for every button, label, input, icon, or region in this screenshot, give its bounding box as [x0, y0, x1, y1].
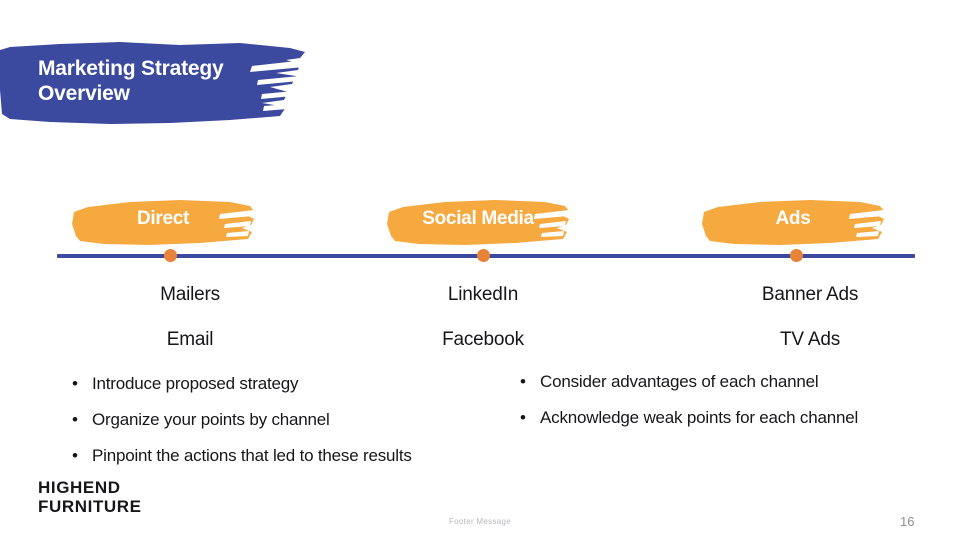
timeline-dot-direct	[164, 249, 177, 262]
channel-tag-social-media[interactable]: Social Media	[385, 198, 571, 246]
bullet-marker-icon: •	[520, 406, 540, 430]
list-item-label: Consider advantages of each channel	[540, 370, 818, 394]
bullet-marker-icon: •	[72, 372, 92, 396]
page-number: 16	[900, 514, 940, 529]
channel-item: Banner Ads	[700, 272, 920, 317]
brand-logo-line-2: FURNITURE	[38, 497, 142, 516]
channel-tag-label: Direct	[70, 208, 256, 230]
channel-item: Facebook	[373, 317, 593, 362]
footer-message: Footer Message	[0, 517, 960, 526]
bullet-list-right: • Consider advantages of each channel • …	[520, 370, 940, 442]
channel-tag-label: Social Media	[385, 208, 571, 230]
timeline-dot-ads	[790, 249, 803, 262]
timeline-dot-social-media	[477, 249, 490, 262]
bullet-marker-icon: •	[520, 370, 540, 394]
list-item: • Consider advantages of each channel	[520, 370, 940, 394]
list-item: • Introduce proposed strategy	[72, 372, 512, 396]
bullet-list-left: • Introduce proposed strategy • Organize…	[72, 372, 512, 480]
channel-item: Mailers	[80, 272, 300, 317]
channel-tag-direct[interactable]: Direct	[70, 198, 256, 246]
channel-tag-ads[interactable]: Ads	[700, 198, 886, 246]
slide-canvas: Marketing Strategy Overview Direct Socia…	[0, 0, 960, 540]
brand-logo: HIGHEND FURNITURE	[38, 478, 142, 516]
channel-item: TV Ads	[700, 317, 920, 362]
list-item-label: Organize your points by channel	[92, 408, 330, 432]
channel-item: Email	[80, 317, 300, 362]
bullet-marker-icon: •	[72, 408, 92, 432]
title-banner: Marketing Strategy Overview	[0, 40, 312, 126]
list-item: • Acknowledge weak points for each chann…	[520, 406, 940, 430]
list-item-label: Acknowledge weak points for each channel	[540, 406, 858, 430]
bullet-marker-icon: •	[72, 444, 92, 468]
channel-column-ads: Banner Ads TV Ads	[700, 272, 920, 362]
brand-logo-line-1: HIGHEND	[38, 478, 142, 497]
list-item: • Organize your points by channel	[72, 408, 512, 432]
channel-item: LinkedIn	[373, 272, 593, 317]
list-item-label: Introduce proposed strategy	[92, 372, 298, 396]
channel-column-direct: Mailers Email	[80, 272, 300, 362]
list-item: • Pinpoint the actions that led to these…	[72, 444, 512, 468]
channel-tag-label: Ads	[700, 208, 886, 230]
channel-column-social-media: LinkedIn Facebook	[373, 272, 593, 362]
list-item-label: Pinpoint the actions that led to these r…	[92, 444, 412, 468]
page-title: Marketing Strategy Overview	[38, 56, 288, 106]
